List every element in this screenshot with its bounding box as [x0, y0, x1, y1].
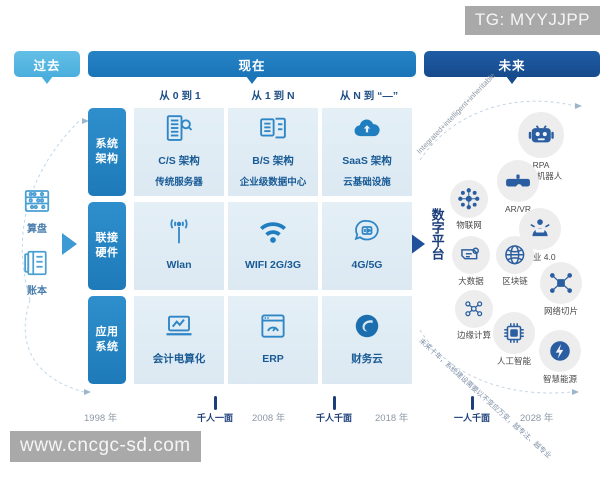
era-future-label: 未来 — [498, 55, 525, 74]
matrix-cell-cs-architecture[interactable]: C/S 架构 传统服务器 — [134, 108, 224, 196]
cell-subtitle: 传统服务器 — [155, 177, 203, 188]
future-bubble-smart-energy[interactable]: 智慧能源 — [539, 330, 581, 385]
finance-cloud-icon — [350, 311, 384, 341]
platform-text: 数字平台 — [429, 208, 444, 260]
timeline-year-1998: 1998 年 — [84, 410, 117, 424]
laptop-chart-icon — [162, 311, 196, 341]
era-future-pointer — [506, 76, 518, 84]
stage-caption-0-to-1: 从 0 到 1 — [134, 88, 226, 103]
abacus-icon — [22, 186, 52, 216]
future-bubble-blockchain[interactable]: 区块链 — [496, 236, 534, 287]
cell-title: Wlan — [166, 259, 191, 271]
past-item-abacus-label: 算盘 — [27, 220, 47, 235]
cell-title: C/S 架构 — [158, 155, 199, 167]
browser-gauge-icon — [256, 311, 290, 341]
stage-caption-1-to-n: 从 1 到 N — [227, 88, 319, 103]
cloud-sync-icon — [350, 113, 384, 143]
blockchain-globe-icon — [496, 236, 534, 274]
stage-caption-n-to-one: 从 N 到 “—” — [320, 88, 418, 103]
matrix-cell-erp[interactable]: ERP — [228, 296, 318, 384]
timeline-year-2028: 2028 年 — [520, 410, 553, 424]
bigdata-icon — [452, 236, 490, 274]
watermark-site-url: www.cncgc-sd.com — [10, 431, 201, 462]
matrix-row-label-connectivity: 联接 硬件 — [88, 202, 126, 290]
future-bubble-label: 网络切片 — [544, 306, 578, 317]
future-bubble-label: 智慧能源 — [543, 374, 577, 385]
network-slice-icon — [540, 262, 582, 304]
row-label-line1: 应用 — [96, 325, 119, 340]
past-item-abacus: 算盘 — [14, 186, 60, 235]
era-header-past[interactable]: 过去 — [14, 51, 80, 77]
arrow-past-to-now-icon — [62, 233, 77, 255]
cell-title: B/S 架构 — [252, 155, 293, 167]
era-now-label: 现在 — [238, 55, 265, 74]
era-past-pointer — [41, 76, 53, 84]
iot-network-icon — [450, 180, 488, 218]
watermark-tg: TG: MYYJJPP — [465, 6, 600, 35]
robot-icon — [518, 112, 564, 158]
future-bubble-ai[interactable]: 人工智能 — [493, 312, 535, 367]
cell-subtitle: 云基础设施 — [343, 177, 391, 188]
past-item-ledger: 账本 — [14, 248, 60, 297]
row-label-line2: 架构 — [96, 152, 119, 167]
row-label-line2: 系统 — [96, 340, 119, 355]
cell-title: ERP — [262, 353, 284, 365]
future-bubble-bigdata[interactable]: 大数据 — [452, 236, 490, 287]
matrix-cell-wlan[interactable]: Wlan — [134, 202, 224, 290]
marker-stem — [471, 396, 474, 410]
data-center-icon — [256, 113, 290, 143]
era-header-now[interactable]: 现在 — [88, 51, 416, 77]
future-bubble-label: 大数据 — [458, 276, 484, 287]
infographic-canvas: TG: MYYJJPP www.cncgc-sd.com 过去 现在 未来 从 … — [0, 0, 600, 480]
row-label-line1: 联接 — [96, 231, 119, 246]
future-bubble-label: 边缘计算 — [457, 330, 491, 341]
arc-annotation-english: Integrated+intelligent+inheritable — [415, 71, 497, 156]
marker-label: 千人一面 — [197, 411, 233, 424]
capability-matrix: 系统 架构 联接 硬件 应用 系统 C/S 架构 — [88, 106, 418, 388]
marker-label: 一人千面 — [454, 411, 490, 424]
timeline-marker-yiren-qianmian: 一人千面 — [454, 396, 490, 424]
cell-title: 财务云 — [351, 353, 383, 365]
matrix-row-label-applications: 应用 系统 — [88, 296, 126, 384]
matrix-cell-saas-architecture[interactable]: SaaS 架构 云基础设施 — [322, 108, 412, 196]
timeline-marker-qianren-yimian: 千人一面 — [197, 396, 233, 424]
era-now-pointer — [246, 76, 258, 84]
vr-headset-icon — [497, 160, 539, 202]
marker-label: 千人千面 — [316, 411, 352, 424]
marker-stem — [333, 396, 336, 410]
server-rack-icon — [162, 113, 196, 143]
timeline-year-2008: 2008 年 — [252, 410, 285, 424]
matrix-cell-wifi-2g-3g[interactable]: WIFI 2G/3G — [228, 202, 318, 290]
matrix-cell-finance-cloud[interactable]: 财务云 — [322, 296, 412, 384]
row-label-line2: 硬件 — [96, 246, 119, 261]
timeline-year-2018: 2018 年 — [375, 410, 408, 424]
edge-compute-icon — [455, 290, 493, 328]
era-header-future[interactable]: 未来 — [424, 51, 600, 77]
matrix-cell-4g-5g[interactable]: 4G/5G — [322, 202, 412, 290]
cell-title: 4G/5G — [352, 259, 383, 271]
future-bubble-arvr[interactable]: AR/VR — [497, 160, 539, 215]
cell-title: WIFI 2G/3G — [245, 259, 301, 271]
cell-subtitle: 企业级数据中心 — [240, 177, 307, 188]
future-bubble-iot[interactable]: 物联网 — [450, 180, 488, 231]
past-item-ledger-label: 账本 — [27, 282, 47, 297]
era-past-label: 过去 — [33, 55, 60, 74]
cell-title: 会计电算化 — [153, 353, 206, 365]
matrix-cell-computerized-accounting[interactable]: 会计电算化 — [134, 296, 224, 384]
future-bubble-network-slice[interactable]: 网络切片 — [540, 262, 582, 317]
wifi-icon — [256, 217, 290, 247]
timeline: 1998 年 2008 年 2018 年 2028 年 千人一面 千人千面 一人… — [0, 396, 600, 430]
future-bubble-edge-computing[interactable]: 边缘计算 — [455, 290, 493, 341]
row-label-line1: 系统 — [96, 137, 119, 152]
timeline-marker-qianren-qianmian: 千人千面 — [316, 396, 352, 424]
marker-stem — [214, 396, 217, 410]
ai-chip-icon — [493, 312, 535, 354]
ledger-icon — [22, 248, 52, 278]
future-bubble-label: 物联网 — [456, 220, 482, 231]
matrix-cell-bs-architecture[interactable]: B/S 架构 企业级数据中心 — [228, 108, 318, 196]
matrix-row-label-architecture: 系统 架构 — [88, 108, 126, 196]
smart-energy-icon — [539, 330, 581, 372]
antenna-icon — [162, 217, 196, 247]
cell-title: SaaS 架构 — [342, 155, 392, 167]
future-bubble-label: 区块链 — [502, 276, 528, 287]
digital-platform-label: 数字平台 — [428, 208, 446, 263]
future-bubble-label: 人工智能 — [497, 356, 531, 367]
chat-5g-icon — [350, 217, 384, 247]
